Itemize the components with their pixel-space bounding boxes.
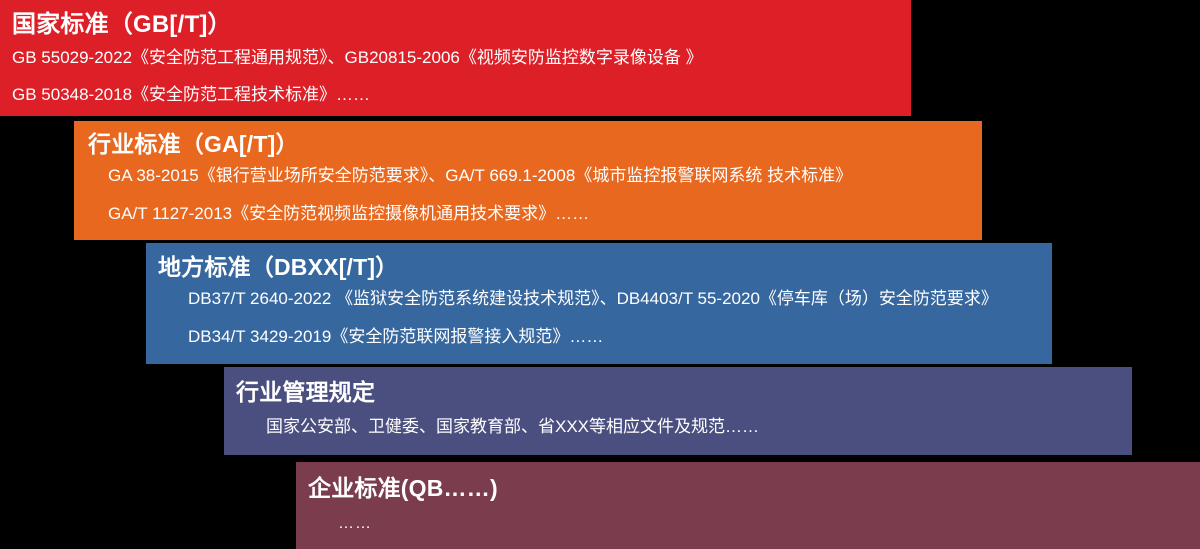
band-industry-management-rules-lines: 国家公安部、卫健委、国家教育部、省XXX等相应文件及规范…… <box>266 415 1132 439</box>
band-national-standard-title: 国家标准（GB[/T]） <box>12 10 911 40</box>
band-industry-standard-lines: GA 38-2015《银行营业场所安全防范要求》、GA/T 669.1-2008… <box>108 164 982 226</box>
band-line: GA 38-2015《银行营业场所安全防范要求》、GA/T 669.1-2008… <box>108 164 982 188</box>
band-line: GB 50348-2018《安全防范工程技术标准》…… <box>12 83 911 107</box>
band-local-standard-title: 地方标准（DBXX[/T]） <box>158 252 1052 282</box>
band-national-standard-lines: GB 55029-2022《安全防范工程通用规范》、GB20815-2006《视… <box>12 46 911 107</box>
band-enterprise-standard-title: 企业标准(QB……) <box>308 473 1200 503</box>
band-line: 国家公安部、卫健委、国家教育部、省XXX等相应文件及规范…… <box>266 415 1132 439</box>
band-line: …… <box>338 512 1200 536</box>
band-local-standard-lines: DB37/T 2640-2022 《监狱安全防范系统建设技术规范》、DB4403… <box>188 287 1052 349</box>
band-line: GB 55029-2022《安全防范工程通用规范》、GB20815-2006《视… <box>12 46 911 70</box>
band-local-standard: 地方标准（DBXX[/T]） DB37/T 2640-2022 《监狱安全防范系… <box>146 243 1052 364</box>
band-enterprise-standard-lines: …… <box>338 512 1200 536</box>
band-industry-management-rules-title: 行业管理规定 <box>236 377 1132 407</box>
band-enterprise-standard: 企业标准(QB……) …… <box>296 462 1200 549</box>
slide-canvas: 国家标准（GB[/T]） GB 55029-2022《安全防范工程通用规范》、G… <box>0 0 1200 549</box>
band-line: GA/T 1127-2013《安全防范视频监控摄像机通用技术要求》…… <box>108 202 982 226</box>
band-national-standard: 国家标准（GB[/T]） GB 55029-2022《安全防范工程通用规范》、G… <box>0 0 911 116</box>
band-line: DB34/T 3429-2019《安全防范联网报警接入规范》…… <box>188 325 1052 349</box>
band-industry-standard-title: 行业标准（GA[/T]） <box>88 129 982 159</box>
band-line: DB37/T 2640-2022 《监狱安全防范系统建设技术规范》、DB4403… <box>188 287 1052 311</box>
band-industry-standard: 行业标准（GA[/T]） GA 38-2015《银行营业场所安全防范要求》、GA… <box>74 121 982 240</box>
band-industry-management-rules: 行业管理规定 国家公安部、卫健委、国家教育部、省XXX等相应文件及规范…… <box>224 367 1132 455</box>
